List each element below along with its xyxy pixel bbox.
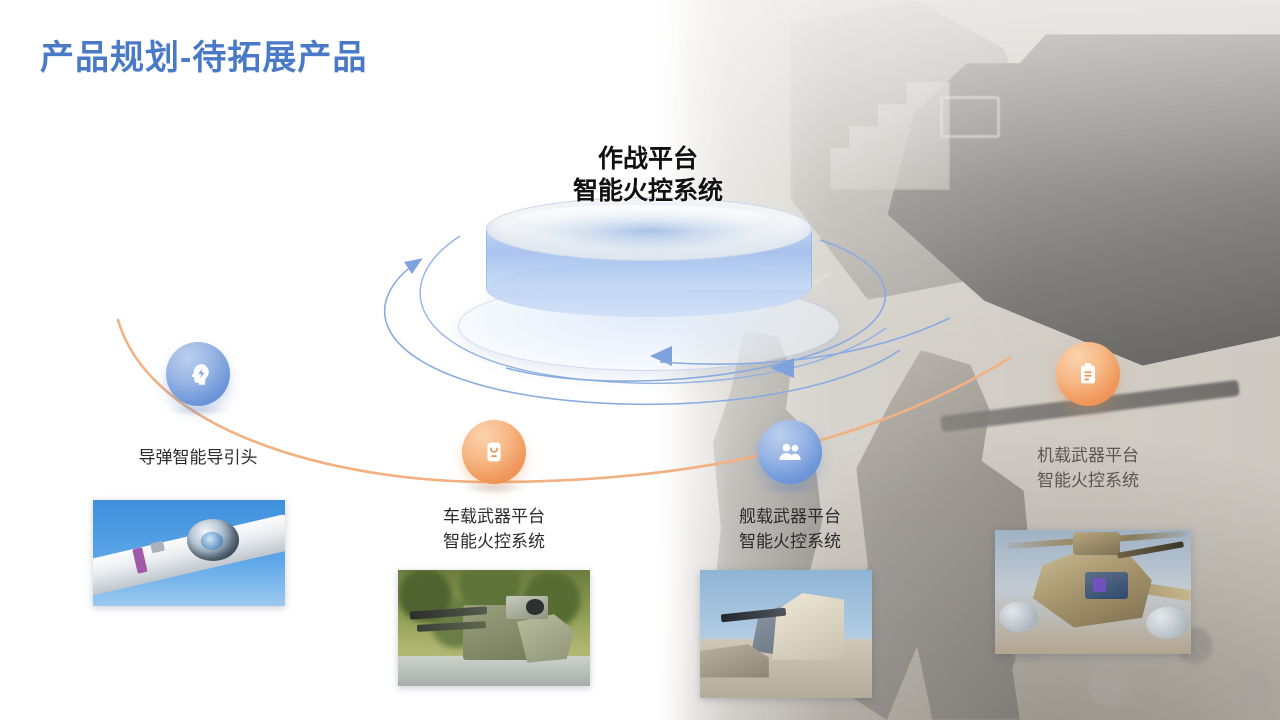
node-label-missile-seeker: 导弹智能导引头 <box>58 446 338 471</box>
slide-canvas: 产品规划-待拓展产品 作战平台 智能火控系统 <box>0 0 1280 720</box>
thumb-pod-left <box>999 602 1038 632</box>
node-label-line1: 舰载武器平台 <box>668 505 912 530</box>
node-label-airborne-weapon-platform: 机载武器平台 智能火控系统 <box>960 444 1216 493</box>
thumb-optic <box>506 596 548 619</box>
robot-device-icon <box>479 437 509 467</box>
node-vehicle-weapon-platform[interactable] <box>462 420 526 484</box>
node-label-line2: 智能火控系统 <box>960 469 1216 494</box>
brain-head-icon <box>183 359 213 389</box>
node-label-line2: 智能火控系统 <box>668 530 912 555</box>
node-label-line2: 智能火控系统 <box>372 530 616 555</box>
central-label-line2: 智能火控系统 <box>398 175 898 207</box>
node-ship-weapon-platform[interactable] <box>758 420 822 484</box>
page-title: 产品规划-待拓展产品 <box>40 30 367 79</box>
thumbnail-missile-seeker[interactable] <box>93 500 285 606</box>
central-label-line1: 作战平台 <box>398 143 898 175</box>
thumb-pod-right <box>1146 607 1189 639</box>
platform-gloss <box>518 205 768 231</box>
thumbnail-vehicle-weapon-platform[interactable] <box>398 570 590 686</box>
node-label-line1: 导弹智能导引头 <box>58 446 338 471</box>
thumbnail-airborne-weapon-platform[interactable] <box>995 530 1191 654</box>
node-label-ship-weapon-platform: 舰载武器平台 智能火控系统 <box>668 505 912 554</box>
users-icon <box>775 437 805 467</box>
node-label-line1: 机载武器平台 <box>960 444 1216 469</box>
clipboard-icon <box>1073 359 1103 389</box>
node-missile-seeker[interactable] <box>166 342 230 406</box>
thumb-rotor-hub <box>1073 532 1120 554</box>
node-airborne-weapon-platform[interactable] <box>1056 342 1120 406</box>
central-platform-label: 作战平台 智能火控系统 <box>398 143 898 207</box>
central-platform-graphic: 作战平台 智能火控系统 <box>398 165 898 395</box>
node-label-line1: 车载武器平台 <box>372 505 616 530</box>
thumb-seeker-dome <box>187 519 239 561</box>
thumb-vehicle-hull <box>398 656 590 686</box>
node-label-vehicle-weapon-platform: 车载武器平台 智能火控系统 <box>372 505 616 554</box>
thumbnail-ship-weapon-platform[interactable] <box>700 570 872 698</box>
thumb-canopy <box>1085 572 1128 599</box>
